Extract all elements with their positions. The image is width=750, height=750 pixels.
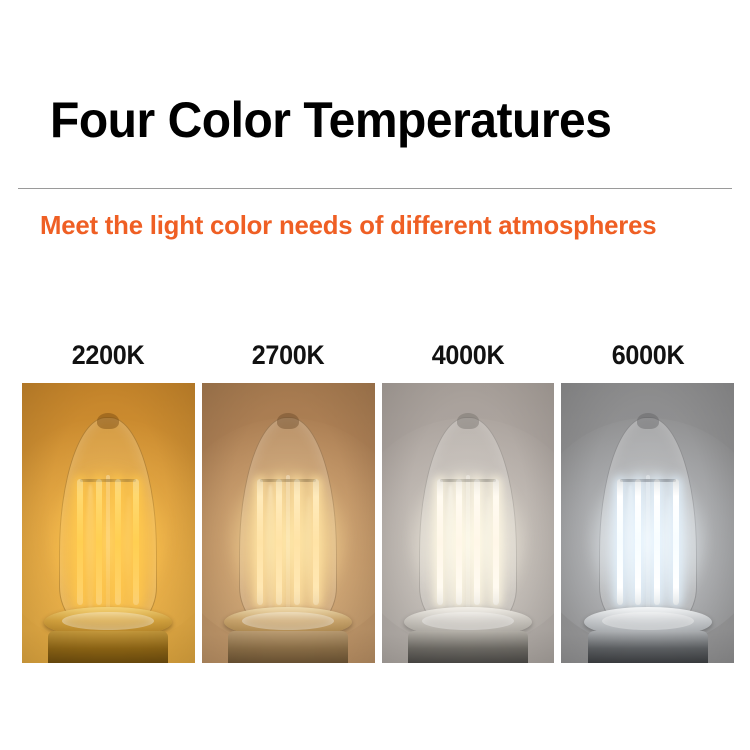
candle-bulb [213,383,363,663]
candle-bulb [33,383,183,663]
led-filaments [257,479,319,605]
bulb-socket [408,631,528,663]
filament-strip [257,479,263,605]
bulb-tip [277,413,299,429]
candle-bulb [393,383,543,663]
filament-strip [437,479,443,605]
filament-strip [276,479,282,605]
page-subtitle: Meet the light color needs of different … [40,208,723,242]
candle-bulb [573,383,723,663]
filament-strip [493,479,499,605]
filament-strip [673,479,679,605]
filament-strip [133,479,139,605]
bulb-photo-row [22,383,734,663]
bulb-photo-2200k [22,383,195,663]
led-filaments [617,479,679,605]
header-divider [18,188,732,189]
bulb-photo-6000k [561,383,734,663]
filament-strip [474,479,480,605]
temperature-label-4000k: 4000K [382,338,555,372]
bulb-base-plate-inner [602,612,694,630]
bulb-photo-4000k [382,383,555,663]
filament-strip [294,479,300,605]
filament-strip [96,479,102,605]
filament-strip [77,479,83,605]
filament-strip [617,479,623,605]
bulb-socket [588,631,708,663]
bulb-photo-2700k [202,383,375,663]
filament-strip [115,479,121,605]
led-filaments [437,479,499,605]
temperature-label-2200k: 2200K [22,338,195,372]
temperature-label-text: 2700K [252,340,325,371]
filament-strip [635,479,641,605]
temperature-label-2700k: 2700K [202,338,375,372]
temperature-label-text: 2200K [72,340,145,371]
temperature-label-text: 6000K [611,340,684,371]
bulb-base-plate-inner [242,612,334,630]
bulb-socket [48,631,168,663]
temperature-label-text: 4000K [432,340,505,371]
bulb-socket [228,631,348,663]
led-filaments [77,479,139,605]
temperature-label-row: 2200K 2700K 4000K 6000K [22,338,734,372]
filament-strip [654,479,660,605]
filament-strip [456,479,462,605]
bulb-tip [637,413,659,429]
page-title: Four Color Temperatures [50,92,611,148]
filament-strip [313,479,319,605]
bulb-base-plate-inner [62,612,154,630]
infographic-page: Four Color Temperatures Meet the light c… [0,0,750,750]
bulb-tip [97,413,119,429]
bulb-tip [457,413,479,429]
temperature-label-6000k: 6000K [561,338,734,372]
bulb-base-plate-inner [422,612,514,630]
